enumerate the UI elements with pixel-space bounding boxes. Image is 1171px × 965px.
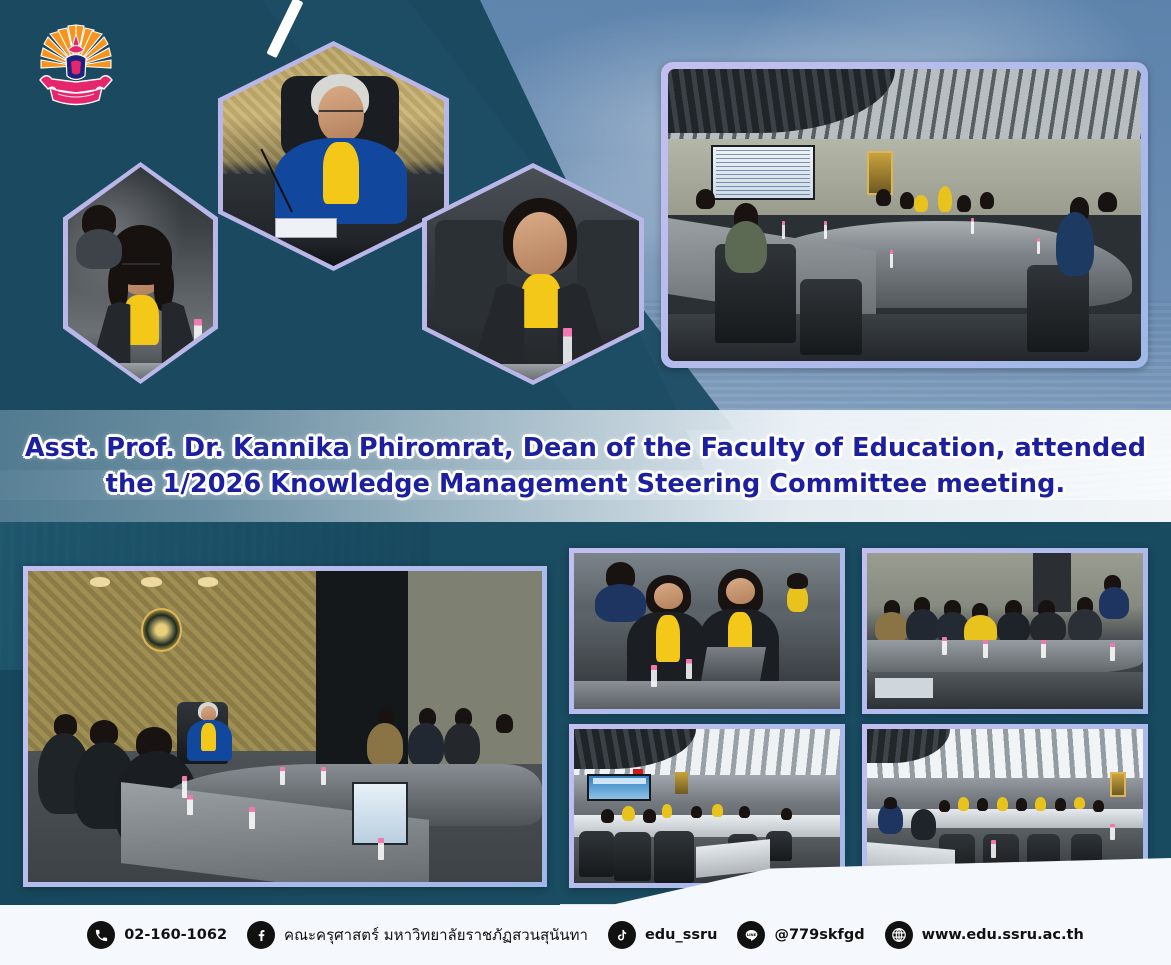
headline-band: Asst. Prof. Dr. Kannika Phiromrat, Dean … [0, 410, 1171, 522]
contact-footer: 02-160-1062 คณะครุศาสตร์ มหาวิทยาลัยราชภ… [0, 905, 1171, 965]
footer-item-facebook[interactable]: คณะครุศาสตร์ มหาวิทยาลัยราชภัฏสวนสุนันทา [247, 921, 588, 949]
website-url: www.edu.ssru.ac.th [922, 927, 1084, 943]
photo-chairman-address [23, 566, 547, 887]
ssru-logo [30, 18, 122, 118]
poster-canvas: Asst. Prof. Dr. Kannika Phiromrat, Dean … [0, 0, 1171, 965]
tiktok-handle: edu_ssru [645, 927, 718, 943]
hex-left-scene [68, 167, 213, 379]
phone-number: 02-160-1062 [124, 927, 227, 943]
photo-room-presentation [569, 724, 845, 888]
headline-line-2: the 1/2026 Knowledge Management Steering… [106, 469, 1066, 499]
photo-main-conference-room [661, 62, 1148, 368]
line-icon: LINE [737, 921, 765, 949]
globe-icon [885, 921, 913, 949]
line-id: @779skfgd [774, 927, 864, 943]
headline-line-1: Asst. Prof. Dr. Kannika Phiromrat, Dean … [25, 433, 1146, 463]
footer-item-website[interactable]: www.edu.ssru.ac.th [885, 921, 1084, 949]
facebook-page-name: คณะครุศาสตร์ มหาวิทยาลัยราชภัฏสวนสุนันทา [284, 923, 588, 947]
photo-two-women-laptop [569, 548, 845, 714]
facebook-icon [247, 921, 275, 949]
tiktok-icon [608, 921, 636, 949]
footer-item-phone[interactable]: 02-160-1062 [87, 921, 227, 949]
svg-text:LINE: LINE [747, 932, 757, 936]
footer-item-line[interactable]: LINE @779skfgd [737, 921, 864, 949]
footer-item-tiktok[interactable]: edu_ssru [608, 921, 718, 949]
photo-members-reviewing [862, 548, 1148, 714]
phone-icon [87, 921, 115, 949]
